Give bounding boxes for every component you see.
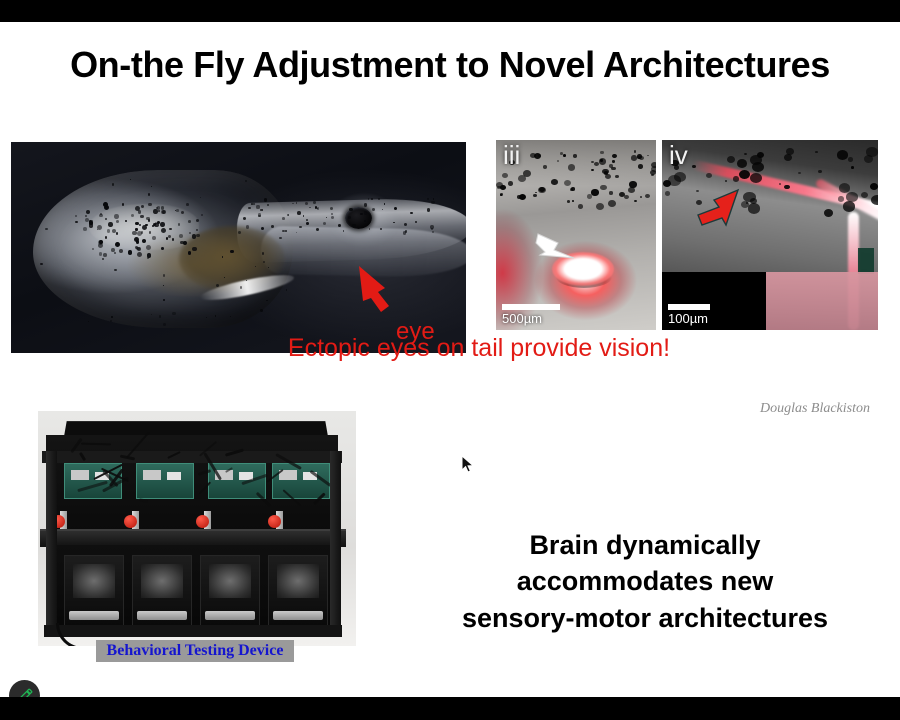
- pigment-spot: [260, 309, 263, 312]
- pigment-spot: [137, 231, 142, 236]
- pigment-spot: [287, 214, 289, 216]
- pigment-spot: [286, 289, 287, 290]
- melanocyte: [560, 152, 563, 155]
- device-caption-box: Behavioral Testing Device: [96, 640, 294, 662]
- pigment-spot: [122, 203, 124, 205]
- pigment-spot: [163, 274, 165, 276]
- white-arrow-icon: [532, 228, 576, 262]
- melanocyte: [839, 183, 850, 192]
- pigment-spot: [112, 229, 116, 233]
- pigment-spot: [172, 238, 175, 241]
- pigment-spot: [103, 202, 108, 207]
- melanocyte: [706, 173, 712, 178]
- melanocyte: [608, 200, 616, 207]
- device-frame-post: [330, 451, 341, 637]
- pigment-spot: [116, 232, 118, 234]
- pigment-spot: [148, 193, 150, 195]
- pigment-spot: [271, 225, 274, 228]
- pigment-spot: [45, 228, 47, 230]
- panel-iv-pink-field: [766, 272, 878, 330]
- melanocyte: [737, 159, 747, 168]
- melanocyte: [743, 192, 756, 203]
- conclusion-line-1: Brain dynamically: [400, 527, 890, 563]
- pigment-spot: [115, 242, 120, 247]
- conclusion-line-3: sensory-motor architectures: [400, 600, 890, 636]
- melanocyte: [628, 187, 635, 193]
- pigment-spot: [110, 320, 112, 322]
- melanocyte: [786, 148, 794, 154]
- pigment-spot: [100, 213, 102, 215]
- pigment-spot: [83, 227, 87, 231]
- pigment-spot: [349, 208, 352, 211]
- melanocyte: [578, 204, 583, 208]
- panel-iv-label: iv: [669, 142, 688, 168]
- melanocyte: [596, 203, 604, 210]
- melanocyte: [530, 153, 536, 158]
- pigment-spot: [330, 207, 333, 210]
- microscopy-caption: Ectopic eyes on tail provide vision!: [0, 334, 900, 363]
- melanocyte: [568, 164, 576, 171]
- melanocyte: [533, 194, 537, 197]
- melanocyte: [674, 172, 686, 182]
- melanocyte: [639, 156, 644, 160]
- melanocyte: [615, 175, 619, 178]
- chamber-tray: [273, 611, 323, 620]
- device-test-chamber: [268, 555, 328, 627]
- pigment-spot: [136, 247, 140, 251]
- melanocyte: [624, 195, 629, 199]
- pigment-spot: [246, 225, 250, 229]
- pigment-spot: [99, 252, 102, 255]
- letterbox-bottom: [0, 697, 900, 720]
- device-knob: [124, 515, 137, 528]
- melanocyte: [725, 180, 727, 182]
- chamber-window: [209, 564, 251, 598]
- pigment-spot: [183, 241, 187, 245]
- melanocyte: [651, 162, 656, 168]
- pigment-spot: [179, 234, 183, 238]
- melanocyte: [665, 191, 671, 196]
- melanocyte: [824, 209, 833, 217]
- melanocyte: [846, 192, 857, 202]
- pigment-spot: [364, 211, 367, 214]
- device-chip: [167, 472, 181, 480]
- pigment-spot: [427, 198, 429, 200]
- melanocyte: [727, 156, 735, 163]
- pigment-spot: [152, 236, 156, 240]
- chamber-tray: [137, 611, 187, 620]
- scale-bar-line: [668, 304, 710, 310]
- device-controller-board: [136, 463, 194, 499]
- pigment-spot: [158, 210, 159, 211]
- pigment-spot: [114, 214, 119, 219]
- pigment-spot: [146, 217, 149, 220]
- pigment-spot: [264, 198, 267, 201]
- melanocyte: [647, 155, 649, 157]
- pigment-spot: [105, 218, 107, 220]
- pigment-spot: [153, 209, 157, 213]
- pigment-spot: [196, 234, 199, 237]
- device-chip: [71, 470, 89, 480]
- panel-iii-scale: 500µm: [502, 304, 560, 326]
- pigment-spot: [161, 247, 164, 250]
- pigment-spot: [108, 222, 112, 226]
- device-test-chamber: [200, 555, 260, 627]
- letterbox-top: [0, 0, 900, 22]
- melanocyte: [551, 179, 558, 185]
- melanocyte: [645, 194, 650, 199]
- device-frame-post: [46, 451, 57, 637]
- pigment-spot: [178, 223, 180, 225]
- microscopy-panel-iii: iii 500µm: [496, 140, 656, 330]
- pigment-spot: [433, 198, 435, 200]
- pigment-spot: [131, 214, 134, 217]
- device-knob: [268, 515, 281, 528]
- melanocyte: [500, 185, 506, 190]
- pigment-spot: [267, 204, 269, 206]
- pigment-spot: [323, 222, 326, 225]
- pigment-spot: [103, 253, 107, 257]
- conclusion-line-2: accommodates new: [400, 563, 890, 599]
- microscopy-panel-iv: iv 100µm: [662, 140, 878, 330]
- pigment-spot: [138, 210, 142, 214]
- melanocyte: [600, 151, 603, 154]
- pigment-spot: [352, 224, 356, 228]
- melanocyte: [634, 200, 637, 202]
- device-top-frame-rail: [42, 451, 342, 463]
- melanocyte: [870, 183, 878, 190]
- melanocyte: [591, 189, 598, 195]
- pigment-spot: [371, 198, 373, 200]
- pigment-spot: [380, 228, 382, 230]
- pigment-spot: [245, 180, 247, 182]
- microscopy-figure: iii 500µm iv 100µm: [494, 138, 880, 332]
- melanocyte: [629, 181, 636, 187]
- melanocyte: [752, 162, 764, 172]
- scale-bar-line: [502, 304, 560, 310]
- chamber-tray: [69, 611, 119, 620]
- melanocyte: [609, 191, 613, 194]
- pigment-spot: [189, 232, 191, 234]
- melanocyte: [612, 160, 615, 162]
- pigment-spot: [188, 251, 191, 254]
- pigment-spot: [111, 316, 113, 318]
- melanocyte: [572, 200, 574, 202]
- melanocyte: [744, 153, 747, 156]
- pigment-spot: [166, 237, 168, 239]
- pigment-spot: [348, 216, 351, 219]
- pigment-spot: [168, 235, 171, 238]
- pigment-spot: [251, 203, 253, 205]
- pigment-spot: [292, 203, 293, 204]
- melanocyte: [861, 192, 868, 198]
- pigment-spot: [263, 261, 265, 263]
- pigment-spot: [431, 201, 434, 204]
- melanocyte: [650, 170, 656, 175]
- pigment-spot: [256, 205, 259, 208]
- device-chip: [143, 470, 161, 480]
- melanocyte: [518, 175, 526, 182]
- melanocyte: [818, 170, 822, 173]
- device-knob: [196, 515, 209, 528]
- page-title: On-the Fly Adjustment to Novel Architect…: [0, 44, 900, 86]
- pigment-spot: [176, 209, 179, 212]
- melanocyte: [640, 196, 642, 198]
- behavioral-testing-device-photo: [38, 411, 356, 646]
- pigment-spot: [230, 250, 233, 253]
- device-test-chamber: [132, 555, 192, 627]
- melanocyte: [600, 159, 603, 161]
- pigment-spot: [141, 205, 144, 208]
- pigment-spot: [360, 213, 363, 216]
- melanocyte: [538, 154, 541, 157]
- chamber-window: [141, 564, 183, 598]
- panel-iv-green-marker: [858, 248, 874, 274]
- red-arrow-icon: [694, 188, 742, 228]
- pigment-spot: [160, 222, 165, 227]
- chamber-tray: [205, 611, 255, 620]
- melanocyte: [508, 181, 513, 185]
- pigment-spot: [343, 230, 345, 232]
- melanocyte: [866, 147, 877, 157]
- slide-stage: On-the Fly Adjustment to Novel Architect…: [0, 0, 900, 720]
- melanocyte: [848, 157, 854, 162]
- melanocyte: [837, 150, 848, 160]
- pigment-spot: [297, 211, 301, 215]
- scale-bar-label: 500µm: [502, 312, 560, 326]
- melanocyte: [600, 185, 607, 191]
- pigment-spot: [303, 215, 305, 217]
- pigment-spot: [149, 231, 151, 233]
- pigment-spot: [147, 257, 149, 259]
- pigment-spot: [258, 213, 261, 216]
- pigment-spot: [230, 316, 231, 317]
- pigment-spot: [201, 214, 203, 216]
- melanocyte: [815, 151, 817, 153]
- conclusion-text: Brain dynamically accommodates new senso…: [400, 527, 890, 636]
- melanocyte: [784, 154, 792, 161]
- melanocyte: [634, 150, 637, 152]
- pigment-spot: [148, 203, 151, 206]
- pigment-spot: [238, 231, 241, 234]
- pigment-spot: [378, 198, 380, 200]
- device-caption-text: Behavioral Testing Device: [107, 642, 284, 660]
- pigment-spot: [107, 229, 110, 232]
- melanocyte: [733, 176, 740, 182]
- melanocyte: [567, 200, 570, 203]
- pigment-spot: [88, 321, 90, 323]
- pigment-spot: [85, 215, 87, 217]
- melanocyte: [543, 165, 547, 168]
- melanocyte: [587, 194, 593, 199]
- melanocyte: [851, 166, 854, 169]
- pigment-spot: [192, 247, 197, 252]
- pigment-spot: [140, 215, 143, 218]
- melanocyte: [663, 180, 671, 187]
- pigment-spot: [102, 258, 104, 260]
- pigment-spot: [112, 183, 115, 186]
- melanocyte: [612, 154, 617, 158]
- device-test-chamber: [64, 555, 124, 627]
- melanocyte: [570, 188, 574, 191]
- chamber-window: [73, 564, 115, 598]
- pigment-spot: [172, 312, 175, 315]
- melanocyte: [798, 172, 801, 175]
- pigment-spot: [313, 201, 316, 204]
- scale-bar-label: 100µm: [668, 312, 710, 326]
- pigment-spot: [364, 203, 368, 207]
- melanocyte: [748, 203, 761, 214]
- pigment-spot: [253, 203, 255, 205]
- pigment-spot: [159, 315, 161, 317]
- pigment-spot: [128, 250, 133, 255]
- pigment-spot: [306, 219, 308, 221]
- panel-iv-scale: 100µm: [668, 304, 710, 326]
- mouse-cursor-icon: [461, 455, 475, 475]
- pigment-spot: [75, 221, 77, 223]
- melanocyte: [784, 185, 790, 190]
- melanocyte: [517, 195, 521, 199]
- melanocyte: [871, 195, 878, 205]
- pigment-spot: [338, 224, 341, 227]
- pigment-spot: [175, 210, 176, 211]
- chamber-window: [277, 564, 319, 598]
- panel-iii-label: iii: [503, 142, 520, 168]
- melanocyte: [502, 173, 508, 178]
- pigment-spot: [114, 269, 116, 271]
- pigment-spot: [99, 240, 103, 244]
- pigment-spot: [135, 222, 139, 226]
- pigment-spot: [305, 202, 308, 205]
- pigment-spot: [188, 220, 191, 223]
- pigment-spot: [306, 222, 309, 225]
- melanocyte: [843, 201, 855, 212]
- melanocyte: [609, 164, 614, 168]
